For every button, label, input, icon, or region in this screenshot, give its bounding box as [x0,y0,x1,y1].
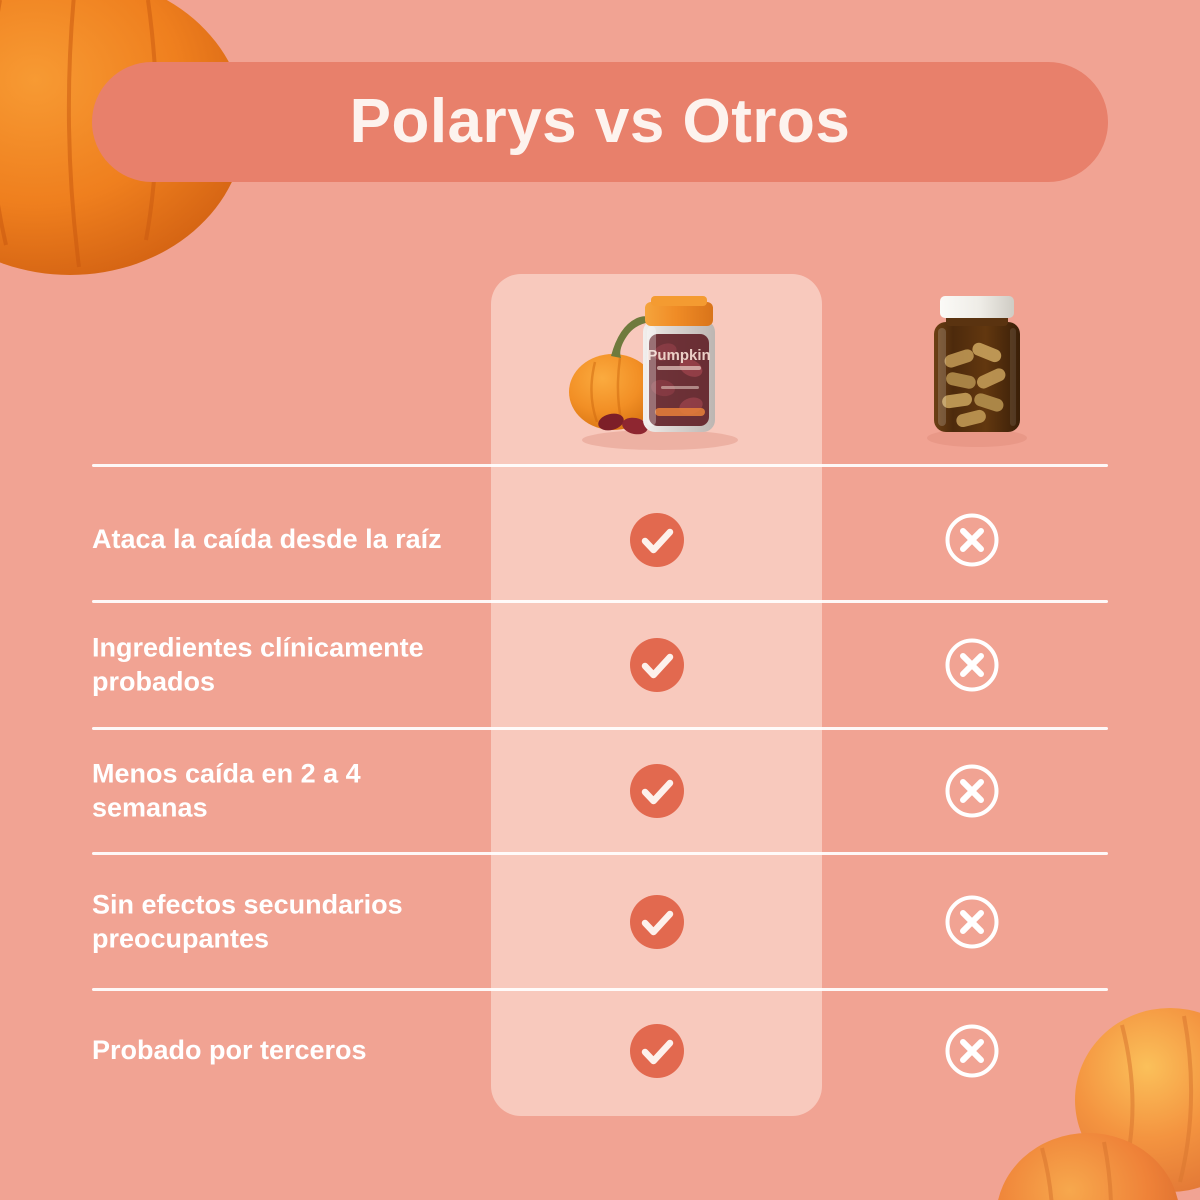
product-image-polarys: Pumpkin [565,282,755,452]
svg-text:Pumpkin: Pumpkin [647,347,710,364]
table-row: Sin efectos secundarios preocupantes [0,922,1200,923]
row-divider [92,727,1108,730]
cross-circle-outline-icon [943,511,1001,569]
comparison-poster: Polarys vs Otros [0,0,1200,1200]
table-row: Ingredientes clínicamente probados [0,665,1200,666]
check-circle-filled-icon [628,511,686,569]
check-circle-filled-icon [628,762,686,820]
check-circle-filled-icon [628,1022,686,1080]
feature-label: Sin efectos secundarios preocupantes [92,888,472,956]
product-header-row: Pumpkin [0,270,1200,460]
row-divider [92,988,1108,991]
feature-label: Ataca la caída desde la raíz [92,523,472,557]
row-divider [92,852,1108,855]
table-row: Menos caída en 2 a 4 semanas [0,791,1200,792]
feature-label: Menos caída en 2 a 4 semanas [92,757,472,825]
row-divider [92,600,1108,603]
product-image-other [912,282,1042,452]
title-banner: Polarys vs Otros [92,62,1108,182]
cross-circle-outline-icon [943,762,1001,820]
table-row: Ataca la caída desde la raíz [0,540,1200,541]
table-row: Probado por terceros [0,1051,1200,1052]
check-circle-filled-icon [628,893,686,951]
cross-circle-outline-icon [943,893,1001,951]
row-divider [92,464,1108,467]
pumpkin-icon-bottom-right [970,980,1200,1200]
feature-label: Ingredientes clínicamente probados [92,631,472,699]
check-circle-filled-icon [628,636,686,694]
page-title: Polarys vs Otros [350,91,851,153]
cross-circle-outline-icon [943,1022,1001,1080]
feature-label: Probado por terceros [92,1034,472,1068]
cross-circle-outline-icon [943,636,1001,694]
